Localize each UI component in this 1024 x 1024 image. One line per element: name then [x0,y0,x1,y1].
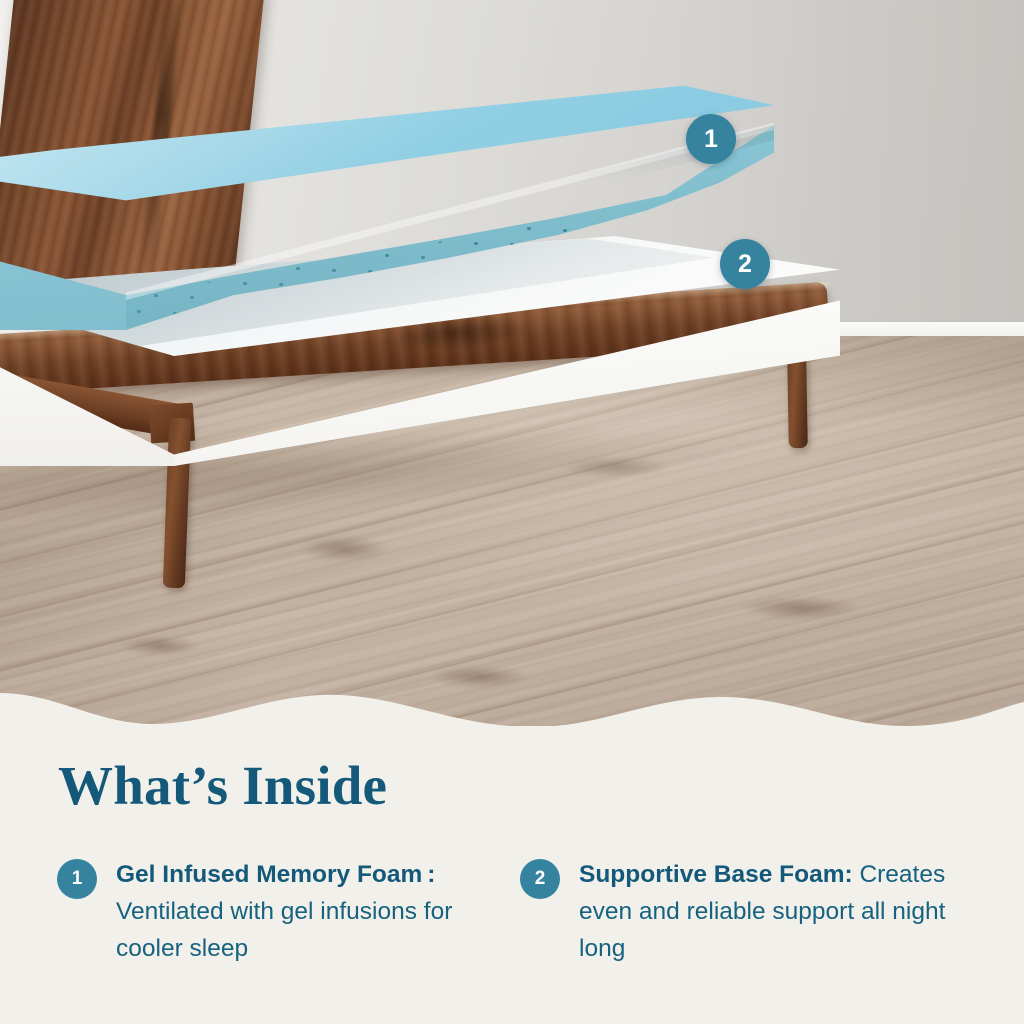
ventilation-hole [550,312,554,315]
ventilation-hole [457,258,461,261]
ventilation-hole [262,299,266,302]
ventilation-hole [245,315,249,318]
ventilation-hole [493,259,497,262]
ventilation-hole [635,232,639,235]
ventilation-hole [599,230,603,233]
ventilation-hole [459,291,463,294]
ventilation-hole [275,216,279,219]
ventilation-hole [527,227,531,230]
ventilation-hole [546,245,550,248]
ventilation-hole [584,280,588,283]
ventilation-hole [332,269,336,272]
ventilation-hole [620,282,624,285]
ventilation-hole [603,298,607,301]
ventilation-hole [461,325,465,328]
ventilation-hole [637,266,641,269]
ventilation-hole [495,293,499,296]
ventilation-hole [209,314,213,317]
ventilation-hole [330,235,334,238]
ventilation-hole [222,230,226,233]
ventilation-hole [169,245,173,248]
ventilation-hole [190,296,194,299]
ventilation-hole [95,208,99,211]
ventilation-hole [173,312,177,315]
ventilation-hole [442,307,446,310]
ventilation-hole [226,298,230,301]
ventilation-hole [586,314,590,317]
whats-inside-panel: What’s Inside 1 Gel Infused Memory Foam … [0,726,1024,1024]
ventilation-hole [368,270,372,273]
ventilation-hole [78,224,82,227]
whats-inside-infographic: 1 2 What’s Inside 1 Gel Infused Memory F… [0,0,1024,1024]
ventilation-hole [383,221,387,224]
ventilation-hole [478,309,482,312]
ventilation-hole [529,261,533,264]
ventilation-hole [491,226,495,229]
ventilation-hole [258,232,262,235]
feature-list: 1 Gel Infused Memory Foam : Ventilated w… [0,856,1024,967]
photo-callout-1[interactable]: 1 [686,114,736,164]
ventilation-hole [205,246,209,249]
ventilation-hole [512,277,516,280]
feature-lead-1: Gel Infused Memory Foam : [116,861,435,888]
gel-foam-layer [0,80,810,330]
ventilation-hole [239,214,243,217]
ventilation-hole [563,229,567,232]
ventilation-hole [61,240,65,243]
ventilation-hole [387,288,391,291]
ventilation-hole [154,294,158,297]
feature-body-1: Ventilated with gel infusions for cooler… [116,898,452,962]
ventilation-hole [423,290,427,293]
ventilation-hole [421,256,425,259]
ventilation-hole [44,256,48,259]
ventilation-hole [582,246,586,249]
ventilation-hole [389,322,393,325]
ventilation-hole [531,294,535,297]
ventilation-hole [601,264,605,267]
photo-callout-2[interactable]: 2 [720,239,770,289]
ventilation-hole [654,250,658,253]
ventilation-hole [565,262,569,265]
ventilation-hole [63,274,67,277]
ventilation-hole [347,219,351,222]
ventilation-hole [281,317,285,320]
ventilation-hole [186,229,190,232]
feature-badge-1: 1 [57,859,97,899]
ventilation-hole [334,302,338,305]
ventilation-hole [99,275,103,278]
ventilation-hole [476,275,480,278]
ventilation-hole [97,242,101,245]
ventilation-hole [497,326,501,329]
ventilation-hole [351,286,355,289]
ventilation-hole [406,306,410,309]
ventilation-hole [114,226,118,229]
ventilation-hole [294,234,298,237]
ventilation-hole [150,227,154,230]
ventilation-hole [618,248,622,251]
ventilation-hole [510,243,514,246]
ventilation-hole [188,262,192,265]
ventilation-hole [279,283,283,286]
feature-badge-2: 2 [520,859,560,899]
feature-text-1: Gel Infused Memory Foam : Ventilated wit… [116,856,497,967]
product-photo: 1 2 [0,0,1024,730]
ventilation-hole [131,210,135,213]
ventilation-hole [116,259,120,262]
ventilation-hole [135,277,139,280]
ventilation-hole [514,310,518,313]
ventilation-hole [474,242,478,245]
ventilation-hole [137,310,141,313]
ventilation-hole [315,285,319,288]
ventilation-hole [353,320,357,323]
ventilation-hole [203,213,207,216]
ventilation-hole [298,301,302,304]
ventilation-hole [317,318,321,321]
ventilation-hole [296,267,300,270]
feature-item-gel-infused-memory-foam: 1 Gel Infused Memory Foam : Ventilated w… [57,856,497,967]
feature-lead-2: Supportive Base Foam: [579,861,853,888]
ventilation-hole [152,261,156,264]
ventilation-hole [167,211,171,214]
ventilation-hole [404,272,408,275]
ventilation-hole [133,243,137,246]
feature-text-2: Supportive Base Foam: Creates even and r… [579,856,960,967]
ventilation-hole [440,274,444,277]
ventilation-hole [80,258,84,261]
ventilation-hole [425,323,429,326]
ventilation-hole [241,248,245,251]
feature-item-supportive-base-foam: 2 Supportive Base Foam: Creates even and… [520,856,960,967]
ventilation-hole [243,282,247,285]
ventilation-hole [385,254,389,257]
ventilation-hole [370,304,374,307]
page-title: What’s Inside [58,756,387,816]
ventilation-hole [567,296,571,299]
ventilation-hole [548,278,552,281]
ventilation-hole [311,218,315,221]
ventilation-hole [671,234,675,237]
